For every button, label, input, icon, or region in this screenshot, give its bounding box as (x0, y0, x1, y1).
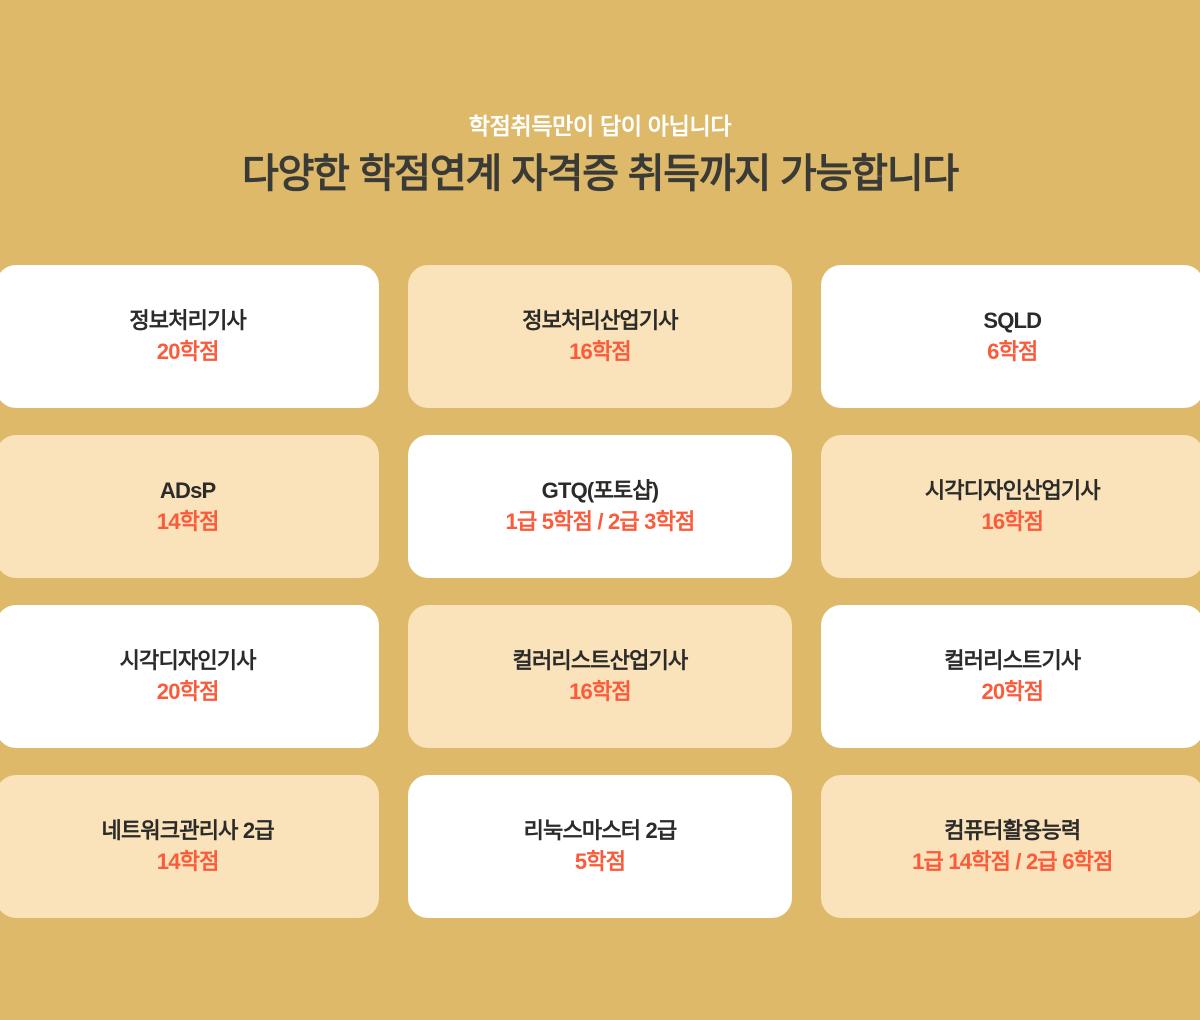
certificate-name: 정보처리산업기사 (522, 307, 678, 335)
certificate-card[interactable]: 컬러리스트기사20학점 (821, 605, 1200, 748)
certificate-credit: 1급 14학점 / 2급 6학점 (912, 848, 1112, 876)
certificate-credit: 14학점 (157, 508, 219, 536)
certificate-name: 리눅스마스터 2급 (524, 817, 677, 845)
page-title: 다양한 학점연계 자격증 취득까지 가능합니다 (0, 150, 1200, 198)
certificate-credit: 16학점 (569, 338, 631, 366)
certificate-credit: 20학점 (157, 678, 219, 706)
certificate-grid: 정보처리기사20학점정보처리산업기사16학점SQLD6학점ADsP14학점GTQ… (0, 265, 1200, 918)
certificate-card[interactable]: 리눅스마스터 2급5학점 (408, 775, 791, 918)
certificate-name: 컬러리스트산업기사 (513, 647, 688, 675)
certificate-credit: 6학점 (987, 338, 1037, 366)
certificate-card[interactable]: 시각디자인산업기사16학점 (821, 435, 1200, 578)
certificate-credit: 16학점 (569, 678, 631, 706)
certificate-credit: 1급 5학점 / 2급 3학점 (506, 508, 695, 536)
certificate-card[interactable]: 정보처리산업기사16학점 (408, 265, 791, 408)
certificate-card[interactable]: GTQ(포토샵)1급 5학점 / 2급 3학점 (408, 435, 791, 578)
certificate-name: ADsP (160, 477, 216, 505)
certificate-card[interactable]: SQLD6학점 (821, 265, 1200, 408)
certificate-name: 시각디자인산업기사 (925, 477, 1100, 505)
certificate-name: 컴퓨터활용능력 (944, 817, 1080, 845)
certificate-card[interactable]: 컴퓨터활용능력1급 14학점 / 2급 6학점 (821, 775, 1200, 918)
certificate-credit: 20학점 (981, 678, 1043, 706)
certificate-name: SQLD (983, 307, 1041, 335)
certificate-credit: 20학점 (157, 338, 219, 366)
certificate-name: GTQ(포토샵) (542, 477, 659, 505)
certificate-credit: 5학점 (575, 848, 625, 876)
certificate-name: 컬러리스트기사 (944, 647, 1080, 675)
promo-page: 학점취득만이 답이 아닙니다 다양한 학점연계 자격증 취득까지 가능합니다 정… (0, 0, 1200, 1020)
header-eyebrow: 학점취득만이 답이 아닙니다 (0, 112, 1200, 141)
certificate-name: 정보처리기사 (129, 307, 246, 335)
certificate-card[interactable]: 컬러리스트산업기사16학점 (408, 605, 791, 748)
certificate-card[interactable]: ADsP14학점 (0, 435, 379, 578)
certificate-name: 시각디자인기사 (120, 647, 256, 675)
certificate-name: 네트워크관리사 2급 (102, 817, 274, 845)
certificate-card[interactable]: 시각디자인기사20학점 (0, 605, 379, 748)
certificate-credit: 16학점 (981, 508, 1043, 536)
certificate-card[interactable]: 네트워크관리사 2급14학점 (0, 775, 379, 918)
page-header: 학점취득만이 답이 아닙니다 다양한 학점연계 자격증 취득까지 가능합니다 (0, 0, 1200, 198)
certificate-credit: 14학점 (157, 848, 219, 876)
certificate-card[interactable]: 정보처리기사20학점 (0, 265, 379, 408)
